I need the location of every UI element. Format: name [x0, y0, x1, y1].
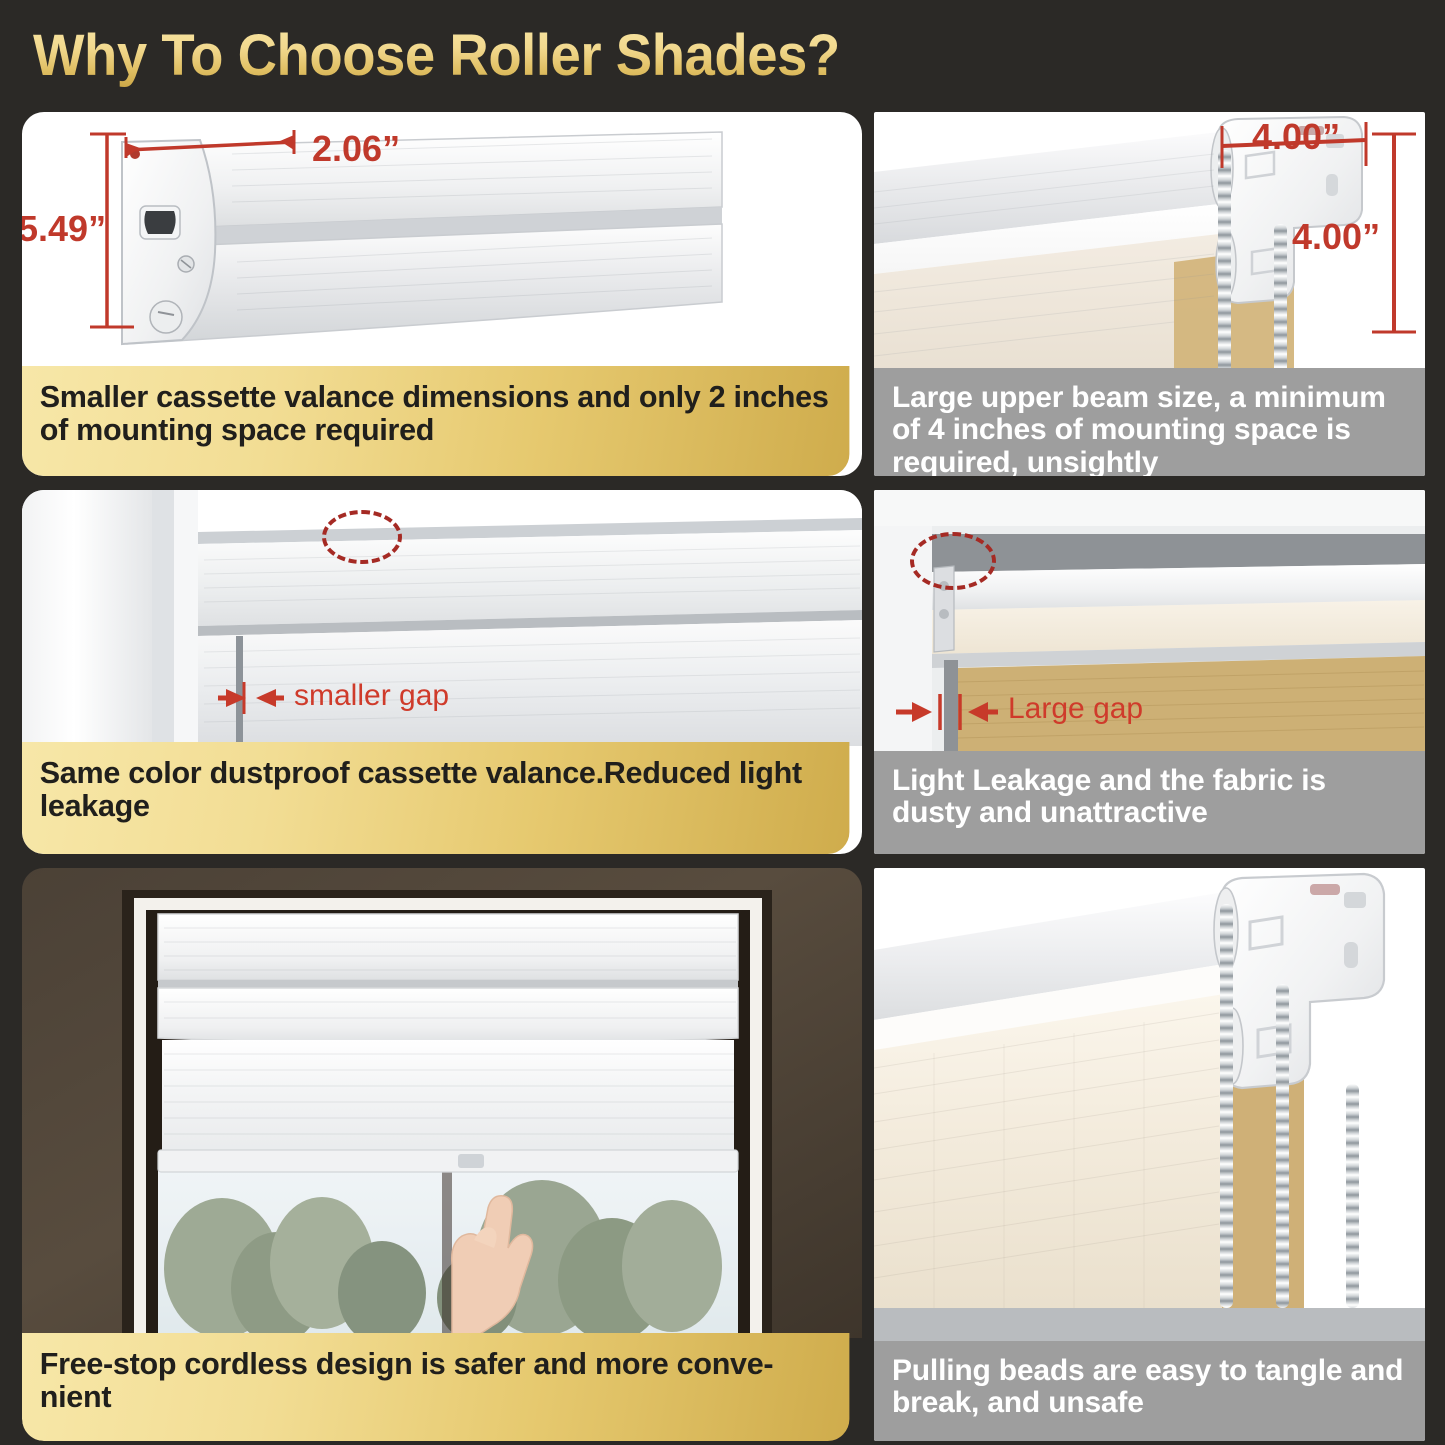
bead-chain: [1276, 984, 1289, 1308]
caption-mid-right: Light Leakage and the fabric is dusty an…: [874, 751, 1425, 854]
caption-top-right: Large upper beam size, a minimum of 4 in…: [874, 368, 1425, 476]
bead-chain: [1220, 904, 1233, 1308]
infographic-page: Why To Choose Roller Shades?: [0, 0, 1445, 1445]
gap-label-large: Large gap: [1008, 692, 1143, 726]
bead-chain: [1346, 1084, 1359, 1308]
panel-bottom-left-image: Free-stop cordless design is safer and m…: [22, 868, 862, 1441]
panel-grid: 2.06” 5.49” Smaller cassette valance dim…: [0, 108, 1445, 1445]
panel-mid-right: Large gap Light Leakage and the fabric i…: [874, 490, 1425, 854]
caption-mid-left: Same color dustproof cassette valance.Re…: [22, 742, 849, 854]
beaded-roller-shade-illustration: [874, 868, 1425, 1341]
panel-top-right: 4.00” 4.00” Large upper beam size, a min…: [874, 112, 1425, 476]
panel-bottom-right: Pulling beads are easy to tangle and bre…: [874, 868, 1425, 1441]
caption-bottom-right: Pulling beads are easy to tangle and bre…: [874, 1341, 1425, 1441]
panel-mid-left-image: smaller gap Same color dustproof cassett…: [22, 490, 862, 854]
panel-bottom-right-image: Pulling beads are easy to tangle and bre…: [874, 868, 1425, 1441]
panel-top-right-image: 4.00” 4.00” Large upper beam size, a min…: [874, 112, 1425, 476]
caption-bottom-left: Free-stop cordless design is safer and m…: [22, 1333, 849, 1441]
panel-bottom-left: Free-stop cordless design is safer and m…: [22, 868, 862, 1441]
page-title: Why To Choose Roller Shades?: [33, 22, 840, 89]
panel-mid-left: smaller gap Same color dustproof cassett…: [22, 490, 862, 854]
dimension-lines-5-49: [22, 112, 862, 372]
dimension-label-beam-height: 4.00”: [1292, 216, 1380, 258]
room-window-scene: [22, 868, 862, 1338]
gap-arrows-large: [874, 490, 1425, 752]
panel-mid-right-image: Large gap Light Leakage and the fabric i…: [874, 490, 1425, 854]
panel-top-left: 2.06” 5.49” Smaller cassette valance dim…: [22, 112, 862, 476]
caption-top-left: Smaller cassette valance dimensions and …: [22, 366, 849, 476]
gap-label-smaller: smaller gap: [294, 679, 449, 713]
panel-top-left-image: 2.06” 5.49” Smaller cassette valance dim…: [22, 112, 862, 476]
dimension-label-height: 5.49”: [22, 208, 106, 250]
